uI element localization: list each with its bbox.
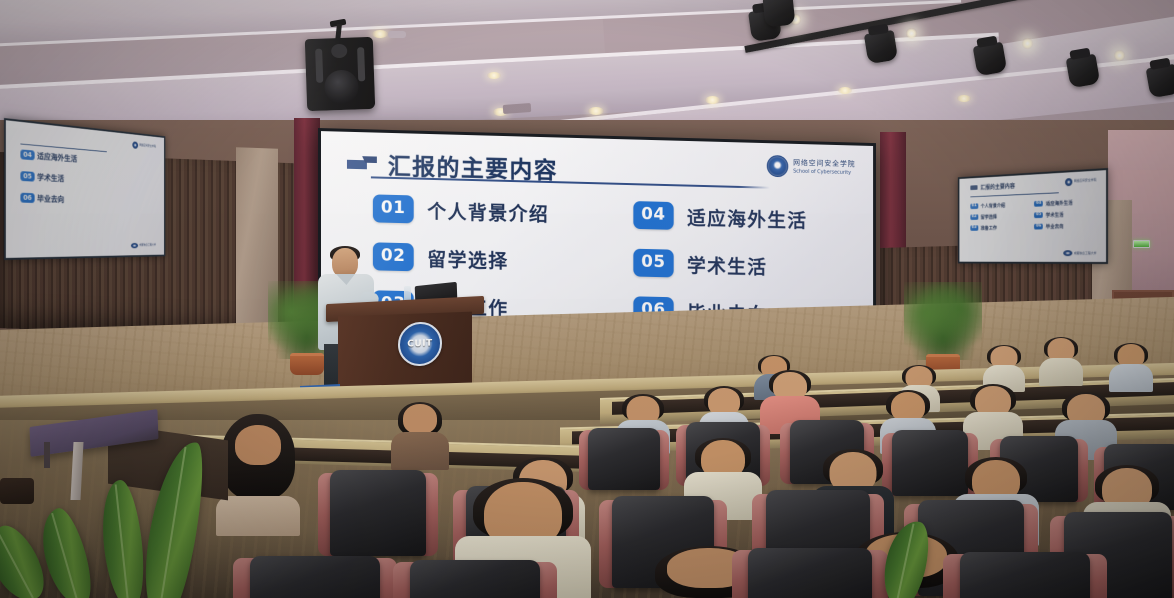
item-number: 05 xyxy=(1034,212,1043,218)
cybersecurity-emblem-icon xyxy=(767,155,789,177)
cybersecurity-school-logo: 网络空间安全学院 School of Cybersecurity xyxy=(767,155,856,179)
item-number-badge: 04 xyxy=(633,201,673,230)
item-number: 04 xyxy=(1034,201,1043,208)
right-display-title: 汇报的主要内容 xyxy=(980,181,1015,191)
downlight xyxy=(957,95,971,102)
auditorium-seat[interactable] xyxy=(410,560,540,598)
left-display-footer-logo: 成都信息工程大学 xyxy=(131,243,156,248)
item-number: 05 xyxy=(21,171,35,182)
item-label: 适应海外生活 xyxy=(1046,199,1073,207)
list-item: 05 学术生活 xyxy=(1034,210,1096,219)
item-number: 04 xyxy=(21,149,35,160)
item-label: 毕业去向 xyxy=(1046,223,1064,230)
item-label: 学术生活 xyxy=(37,172,64,184)
audience-member xyxy=(396,404,444,470)
list-item: 01 个人背景介绍 xyxy=(970,201,1027,210)
plant-foliage xyxy=(904,282,982,360)
downlight xyxy=(838,87,852,94)
cuit-emblem-icon xyxy=(131,243,138,248)
list-item: 06 毕业去向 xyxy=(1034,222,1096,230)
speaker-tweeter-icon xyxy=(331,44,347,59)
slide-title-underline xyxy=(371,176,770,188)
list-item: 04 适应海外生活 xyxy=(1034,198,1096,207)
item-label: 适应海外生活 xyxy=(687,203,807,233)
auditorium-seat[interactable] xyxy=(250,556,380,598)
right-display-right-items: 04 适应海外生活 05 学术生活 06 毕业去向 xyxy=(1034,198,1096,230)
right-display-logo: 网络空间安全学院 xyxy=(1065,176,1096,186)
item-number: 03 xyxy=(970,225,978,231)
item-number: 06 xyxy=(1034,223,1043,229)
list-item: 06 毕业去向 xyxy=(21,192,156,207)
left-display-footer-text: 成都信息工程大学 xyxy=(139,244,156,247)
plant-pot xyxy=(290,353,324,375)
lectern-emblem-text: CUIT xyxy=(407,339,432,350)
list-item: 01 个人背景介绍 xyxy=(373,194,596,228)
auditorium-seat[interactable] xyxy=(330,470,426,556)
flag-bullet-icon xyxy=(347,155,377,171)
item-number-badge: 05 xyxy=(633,249,673,278)
stage-spotlight xyxy=(763,0,796,27)
spotlight-glow xyxy=(1114,50,1125,61)
item-number: 06 xyxy=(21,193,35,203)
list-item: 04 适应海外生活 xyxy=(633,201,853,234)
left-side-display: 网络空间安全学院 04 适应海外生活 05 学术生活 06 毕业去向 xyxy=(4,118,165,260)
speaker-woofer-icon xyxy=(324,69,359,104)
item-label: 留学选择 xyxy=(981,213,997,220)
ceiling-speaker xyxy=(305,37,375,111)
right-display-footer-logo: 成都信息工程大学 xyxy=(1063,251,1096,257)
audience-member xyxy=(1042,338,1080,386)
lecture-hall-photo: 网络空间安全学院 04 适应海外生活 05 学术生活 06 毕业去向 xyxy=(0,0,1174,598)
potted-plant-right xyxy=(898,276,988,376)
spotlight-glow xyxy=(906,28,917,39)
downlight xyxy=(705,96,720,104)
left-display-logo-text: 网络空间安全学院 xyxy=(139,144,156,149)
item-label: 学术生活 xyxy=(687,250,767,279)
monitor-stand-secondary xyxy=(44,442,50,468)
item-number: 02 xyxy=(970,214,978,220)
auditorium-seat[interactable] xyxy=(960,552,1090,598)
list-item: 04 适应海外生活 xyxy=(21,149,156,170)
stage-spotlight xyxy=(864,30,898,64)
right-display-left-items: 01 个人背景介绍 02 留学选择 03 准备工作 xyxy=(970,201,1027,231)
list-item: 03 准备工作 xyxy=(970,224,1027,232)
item-number-badge: 01 xyxy=(373,194,413,223)
emergency-exit-sign xyxy=(1133,240,1150,248)
right-side-display: 汇报的主要内容 网络空间安全学院 01 个人背景介绍 02 留学选择 xyxy=(958,168,1108,264)
ceiling-vent xyxy=(388,31,406,38)
right-display-rule xyxy=(970,193,1059,198)
flag-bullet-icon xyxy=(970,185,977,190)
item-label: 个人背景介绍 xyxy=(427,196,549,226)
cybersecurity-emblem-icon xyxy=(1065,178,1072,186)
item-label: 个人背景介绍 xyxy=(981,202,1005,209)
downlight xyxy=(372,30,388,38)
left-display-logo: 网络空间安全学院 xyxy=(132,142,156,151)
auditorium-seat[interactable] xyxy=(748,548,872,598)
item-label: 留学选择 xyxy=(427,244,508,273)
item-label: 准备工作 xyxy=(981,224,997,231)
list-item: 02 留学选择 xyxy=(970,212,1027,220)
auditorium-seat[interactable] xyxy=(892,430,968,496)
item-number: 01 xyxy=(970,203,978,209)
audience-member xyxy=(220,418,296,536)
item-label: 适应海外生活 xyxy=(37,150,77,164)
cybersecurity-emblem-icon xyxy=(132,142,138,150)
list-item: 05 学术生活 xyxy=(21,171,156,189)
downlight xyxy=(487,72,501,79)
item-number-badge: 02 xyxy=(373,242,413,271)
audience-member xyxy=(1112,344,1150,392)
school-name-en: School of Cybersecurity xyxy=(793,168,855,176)
cuit-emblem-icon xyxy=(1063,251,1072,257)
spotlight-glow xyxy=(1022,38,1033,49)
auditorium-seat[interactable] xyxy=(588,428,660,490)
item-label: 学术生活 xyxy=(1046,211,1064,218)
list-item: 02 留学选择 xyxy=(373,242,596,275)
list-item: 05 学术生活 xyxy=(633,249,853,282)
downlight xyxy=(588,107,604,115)
right-display-logo-text: 网络空间安全学院 xyxy=(1074,178,1096,183)
right-display-footer-text: 成都信息工程大学 xyxy=(1074,252,1096,256)
left-display-items: 04 适应海外生活 05 学术生活 06 毕业去向 xyxy=(21,149,156,207)
ceiling-vent xyxy=(503,103,532,114)
item-label: 毕业去向 xyxy=(37,193,64,205)
floor-equipment-case xyxy=(0,478,34,504)
